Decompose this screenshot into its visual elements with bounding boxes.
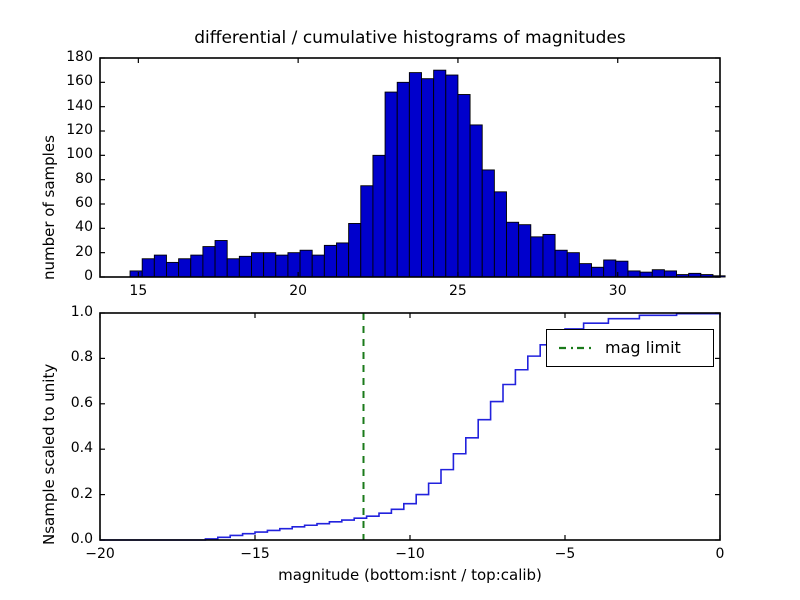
- bottom-x-tick-label: −15: [230, 546, 280, 562]
- matplotlib-figure: differential / cumulative histograms of …: [0, 0, 800, 600]
- bottom-panel-plot-area: [0, 0, 800, 600]
- bottom-x-tick-label: 0: [695, 546, 745, 562]
- top-x-tick-label: 25: [433, 283, 483, 299]
- top-x-tick-label: 20: [273, 283, 323, 299]
- top-y-tick-label: 100: [38, 146, 93, 162]
- top-x-tick-label: 30: [593, 283, 643, 299]
- bottom-y-tick-label: 0.4: [38, 440, 93, 456]
- top-y-tick-label: 0: [38, 268, 93, 284]
- top-y-tick-label: 120: [38, 122, 93, 138]
- top-y-tick-label: 20: [38, 244, 93, 260]
- top-y-tick-label: 60: [38, 195, 93, 211]
- bottom-y-tick-label: 1.0: [38, 304, 93, 320]
- legend-label-mag-limit: mag limit: [605, 338, 681, 357]
- legend[interactable]: mag limit: [546, 329, 714, 367]
- bottom-y-tick-label: 0.6: [38, 395, 93, 411]
- bottom-x-tick-label: −5: [540, 546, 590, 562]
- bottom-x-tick-label: −20: [75, 546, 125, 562]
- top-y-tick-label: 40: [38, 219, 93, 235]
- top-y-tick-label: 180: [38, 49, 93, 65]
- bottom-y-tick-label: 0.0: [38, 531, 93, 547]
- bottom-x-tick-label: −10: [385, 546, 435, 562]
- bottom-y-tick-label: 0.2: [38, 486, 93, 502]
- top-x-tick-label: 15: [113, 283, 163, 299]
- top-y-tick-label: 140: [38, 98, 93, 114]
- bottom-y-tick-label: 0.8: [38, 349, 93, 365]
- top-y-tick-label: 160: [38, 73, 93, 89]
- top-y-tick-label: 80: [38, 171, 93, 187]
